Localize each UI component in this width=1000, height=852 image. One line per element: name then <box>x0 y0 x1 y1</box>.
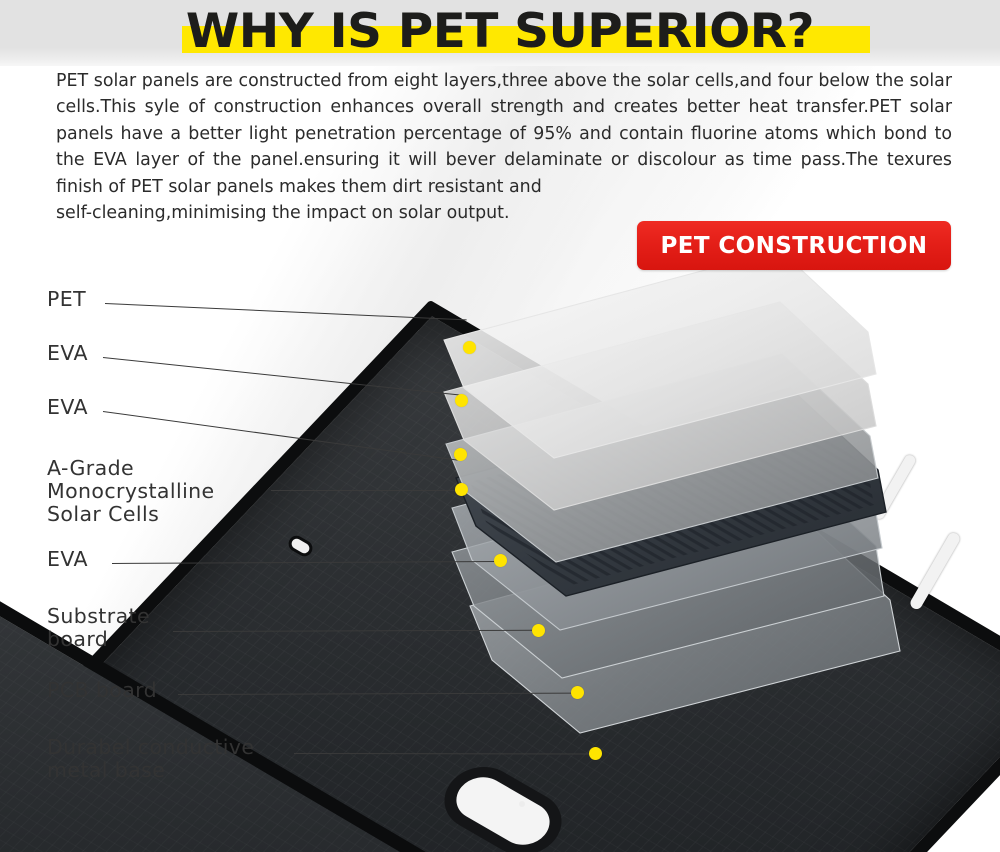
callout-line-eva-upper <box>103 357 461 396</box>
callout-line-eva-lower <box>112 561 497 564</box>
callout-line-substrate-board <box>173 630 535 632</box>
callout-line-pcb-board <box>178 693 577 695</box>
callout-label-eva-second: EVA <box>47 396 88 419</box>
callout-line-metal-base <box>294 753 594 755</box>
callout-dot-solar-cells <box>455 483 468 496</box>
pet-construction-badge-label: PET CONSTRUCTION <box>661 233 928 259</box>
callout-label-pet: PET <box>47 288 86 311</box>
pet-construction-badge: PET CONSTRUCTION <box>637 221 951 270</box>
callout-dot-eva-upper <box>455 394 468 407</box>
callout-line-pet <box>105 303 467 320</box>
callout-dot-substrate-board <box>532 624 545 637</box>
callout-label-pcb-board: PCB board <box>47 679 157 702</box>
callout-dot-metal-base <box>589 747 602 760</box>
callout-label-eva-upper: EVA <box>47 342 88 365</box>
callout-label-eva-lower: EVA <box>47 548 88 571</box>
callout-dot-pet <box>463 341 476 354</box>
callout-dot-eva-lower <box>494 554 507 567</box>
callout-dot-pcb-board <box>571 686 584 699</box>
callout-label-substrate-board: Substrate board <box>47 605 150 651</box>
callout-dot-eva-second <box>454 448 467 461</box>
callout-line-solar-cells <box>271 490 461 491</box>
callout-leaders: PET EVA EVA A-Grade Monocrystalline Sola… <box>0 0 1000 852</box>
callout-label-solar-cells: A-Grade Monocrystalline Solar Cells <box>47 457 215 526</box>
pet-construction-infographic: WHY IS PET SUPERIOR? PET solar panels ar… <box>0 0 1000 852</box>
callout-line-eva-second <box>103 411 458 461</box>
callout-label-metal-base: Durabel conductive metal base <box>47 736 254 782</box>
